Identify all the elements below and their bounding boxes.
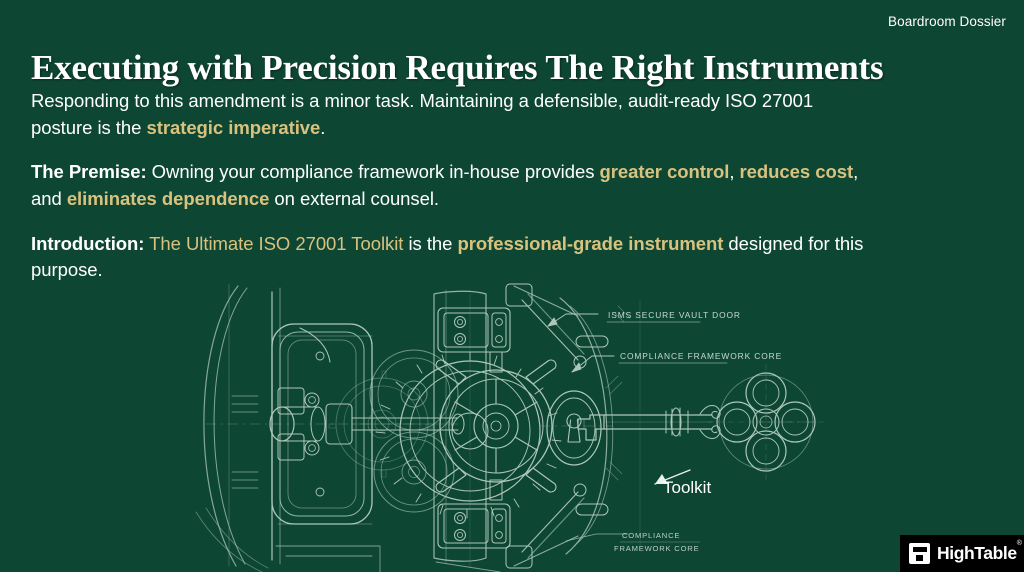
p2-text-7: on external counsel. [269,188,439,209]
p1-highlight-strategic-imperative: strategic imperative [146,117,320,138]
p3-text-3: is the [403,233,457,254]
p2-highlight-greater-control: greater control [600,161,730,182]
label-compliance-framework-core: COMPLIANCE FRAMEWORK CORE [620,351,782,361]
vault-blueprint-illustration: ISMS SECURE VAULT DOOR COMPLIANCE FRAMEW… [0,276,1024,572]
slide-root: Boardroom Dossier Executing with Precisi… [0,0,1024,572]
toolkit-callout-label: Toolkit [663,478,711,498]
paragraph-premise-intro: Responding to this amendment is a minor … [31,88,867,141]
p2-highlight-eliminates-dependence: eliminates dependence [67,188,270,209]
hightable-logo: HighTable® [900,535,1024,572]
logo-word-text: HighTable [937,543,1017,563]
label-isms-vault-door: ISMS SECURE VAULT DOOR [608,310,741,320]
p1-text-3: . [320,117,325,138]
paragraph-introduction: Introduction: The Ultimate ISO 27001 Too… [31,231,867,284]
body-copy: Responding to this amendment is a minor … [31,88,867,284]
page-title: Executing with Precision Requires The Ri… [31,49,931,88]
kicker-label: Boardroom Dossier [888,14,1006,29]
p3-lead-label: Introduction: [31,233,144,254]
p2-text-3: , [729,161,739,182]
p2-text-1: Owning your compliance framework in-hous… [147,161,600,182]
trademark-symbol: ® [1017,540,1022,547]
paragraph-premise: The Premise: Owning your compliance fram… [31,159,867,212]
p3-highlight-professional-grade: professional-grade instrument [458,233,724,254]
table-mark-icon [909,543,930,564]
p2-highlight-reduces-cost: reduces cost [740,161,854,182]
label-compliance-bottom-line1: COMPLIANCE [622,531,680,540]
p2-lead-label: The Premise: [31,161,147,182]
logo-wordmark: HighTable® [937,543,1021,564]
p3-product-name: The Ultimate ISO 27001 Toolkit [149,233,403,254]
label-compliance-bottom-line2: FRAMEWORK CORE [614,544,699,553]
